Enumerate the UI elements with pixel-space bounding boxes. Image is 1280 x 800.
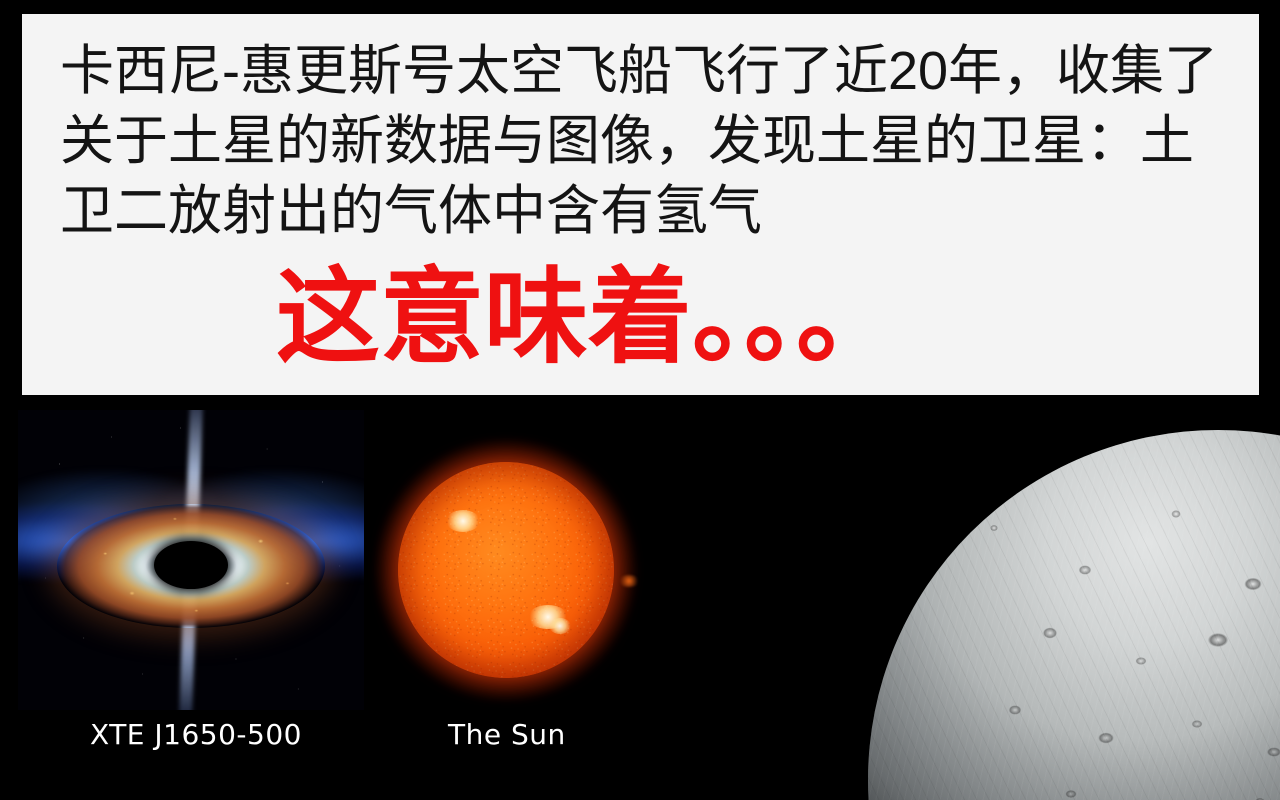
slide-frame: 卡西尼-惠更斯号太空飞船飞行了近20年，收集了关于土星的新数据与图像，发现土星的… — [0, 0, 1280, 800]
black-hole-image — [18, 410, 364, 710]
caption-body-text: 卡西尼-惠更斯号太空飞船飞行了近20年，收集了关于土星的新数据与图像，发现土星的… — [60, 36, 1230, 246]
moon-sphere — [868, 430, 1280, 800]
sun-image — [378, 442, 634, 698]
black-hole-event-horizon — [154, 541, 228, 589]
sun-caption: The Sun — [448, 718, 566, 751]
sun-photosphere-disk — [398, 462, 614, 678]
sun-limb-darkening — [398, 462, 614, 678]
moon-terminator-shadow — [868, 430, 1280, 800]
black-hole-accretion-disk — [57, 504, 325, 628]
photo-strip: XTE J1650-500 The Sun — [0, 396, 1280, 800]
black-hole-caption: XTE J1650-500 — [90, 718, 302, 751]
moon-image — [640, 396, 1280, 800]
red-headline-text: 这意味着。。。 — [276, 263, 900, 373]
sun-prominence — [618, 575, 640, 587]
